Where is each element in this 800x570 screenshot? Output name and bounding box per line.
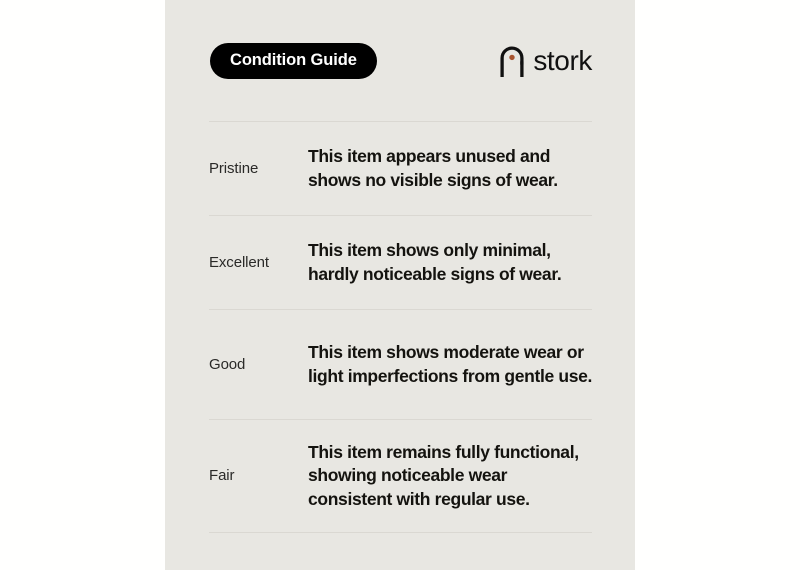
condition-description: This item shows moderate wear or light i… [308,341,592,388]
brand-lockup: stork [499,45,592,77]
table-row: Pristine This item appears unused and sh… [209,121,592,215]
condition-guide-table: Pristine This item appears unused and sh… [209,121,592,533]
page-root: Condition Guide stork Pristine This item… [0,0,800,570]
condition-label: Fair [209,466,308,486]
condition-description: This item shows only minimal, hardly not… [308,239,592,286]
condition-label: Good [209,355,308,375]
condition-guide-card: Condition Guide stork Pristine This item… [165,0,635,570]
brand-wordmark: stork [533,47,592,75]
table-row: Excellent This item shows only minimal, … [209,215,592,309]
table-row: Good This item shows moderate wear or li… [209,309,592,419]
condition-label: Excellent [209,253,308,273]
table-row: Fair This item remains fully functional,… [209,419,592,533]
card-header: Condition Guide stork [165,0,635,121]
condition-description: This item remains fully functional, show… [308,441,592,511]
condition-label: Pristine [209,159,308,179]
stork-arch-logo-icon [499,45,525,77]
condition-guide-badge[interactable]: Condition Guide [210,43,377,79]
condition-description: This item appears unused and shows no vi… [308,145,592,192]
